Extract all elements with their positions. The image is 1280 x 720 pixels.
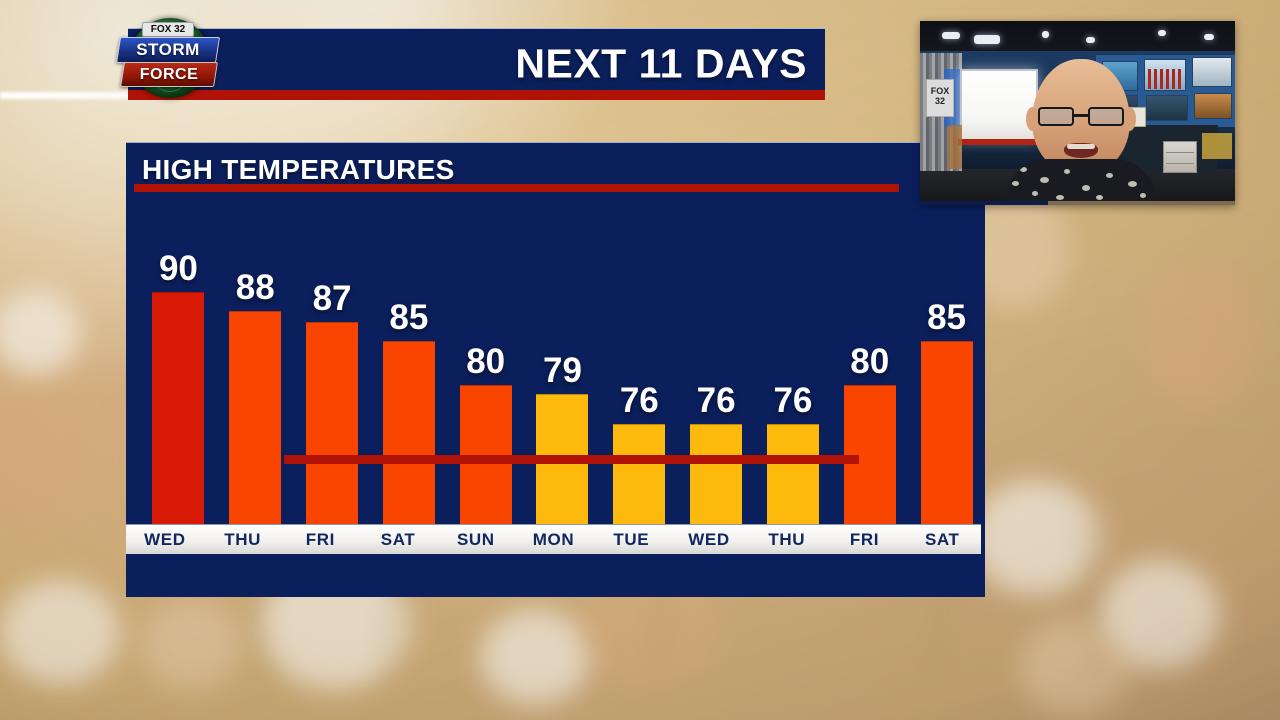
studio-monitor-3	[1192, 57, 1232, 87]
day-label-9: FRI	[826, 530, 904, 550]
bar-value-label: 85	[370, 300, 447, 335]
bar-value-label: 76	[601, 383, 678, 418]
panel-red-rule	[134, 184, 899, 192]
panel-footer	[126, 554, 985, 597]
bar-value-label: 79	[524, 353, 601, 388]
bar-column: 76	[601, 198, 678, 524]
bar-column: 88	[217, 198, 294, 524]
video-bottom-edge-right	[1048, 201, 1235, 205]
bar-rect	[306, 322, 358, 524]
bar-value-label: 87	[294, 281, 371, 316]
bar-rect	[613, 424, 665, 524]
bar-column: 87	[294, 198, 371, 524]
day-label-strip: WEDTHUFRISATSUNMONTUEWEDTHUFRISAT	[126, 524, 981, 554]
studio-ceiling	[920, 21, 1235, 55]
logo-storm-text: STORM	[119, 38, 217, 62]
day-label-3: SAT	[359, 530, 437, 550]
bar-rect	[921, 341, 973, 524]
wood-panel	[948, 125, 962, 169]
patterned-shirt	[1006, 159, 1156, 205]
bar-rect	[767, 424, 819, 524]
lens-right	[1088, 107, 1124, 126]
logo-force-text: FORCE	[123, 63, 215, 86]
bar-chart-plot: 9088878580797676768085	[126, 198, 985, 524]
bar-column: 80	[831, 198, 908, 524]
studio-fox-plaque-text: FOX 32	[927, 86, 953, 106]
meteorologist-figure	[1006, 59, 1156, 205]
bar-value-label: 90	[140, 251, 217, 286]
bar-column: 90	[140, 198, 217, 524]
bar-column: 85	[370, 198, 447, 524]
bar-value-label: 88	[217, 270, 294, 305]
header-red-accent	[128, 90, 825, 100]
day-label-7: WED	[670, 530, 748, 550]
day-label-10: SAT	[903, 530, 981, 550]
meteorologist-video-inset[interactable]: FOX 32	[920, 21, 1235, 205]
bar-value-label: 85	[908, 300, 985, 335]
bar-column: 79	[524, 198, 601, 524]
bar-value-label: 76	[678, 383, 755, 418]
bar-value-label: 76	[755, 383, 832, 418]
header-band: NEXT 11 DAYS	[128, 28, 825, 100]
day-label-4: SUN	[437, 530, 515, 550]
bar-column: 76	[755, 198, 832, 524]
studio-cabinet	[1163, 141, 1197, 173]
day-label-8: THU	[748, 530, 826, 550]
day-label-6: TUE	[592, 530, 670, 550]
yellow-wall-panel	[1202, 133, 1232, 159]
bar-series: 9088878580797676768085	[140, 198, 985, 524]
lens-left	[1038, 107, 1074, 126]
mouth	[1064, 143, 1098, 158]
logo-force-word: FORCE	[120, 62, 218, 87]
bar-column: 85	[908, 198, 985, 524]
studio-monitor-6	[1194, 93, 1232, 119]
panel-bottom-red-accent	[284, 455, 859, 464]
bar-rect	[383, 341, 435, 524]
day-label-2: FRI	[281, 530, 359, 550]
bar-rect	[690, 424, 742, 524]
day-label-5: MON	[515, 530, 593, 550]
storm-force-logo: FOX 32 STORM FORCE	[112, 14, 224, 106]
bar-rect	[229, 311, 281, 524]
page-title: NEXT 11 DAYS	[515, 41, 807, 88]
studio-fox-plaque: FOX 32	[926, 79, 954, 117]
panel-title: HIGH TEMPERATURES	[142, 154, 455, 186]
teeth	[1067, 144, 1095, 149]
eyeglasses	[1036, 107, 1126, 127]
day-label-0: WED	[126, 530, 204, 550]
bar-value-label: 80	[447, 344, 524, 379]
bar-value-label: 80	[831, 344, 908, 379]
day-label-1: THU	[204, 530, 282, 550]
forecast-panel: HIGH TEMPERATURES 9088878580797676768085…	[126, 142, 985, 597]
fox-32-badge: FOX 32	[142, 22, 194, 37]
bar-rect	[152, 292, 204, 524]
bar-column: 76	[678, 198, 755, 524]
glasses-bridge	[1074, 114, 1088, 117]
bar-column: 80	[447, 198, 524, 524]
logo-storm-word: STORM	[116, 37, 220, 63]
